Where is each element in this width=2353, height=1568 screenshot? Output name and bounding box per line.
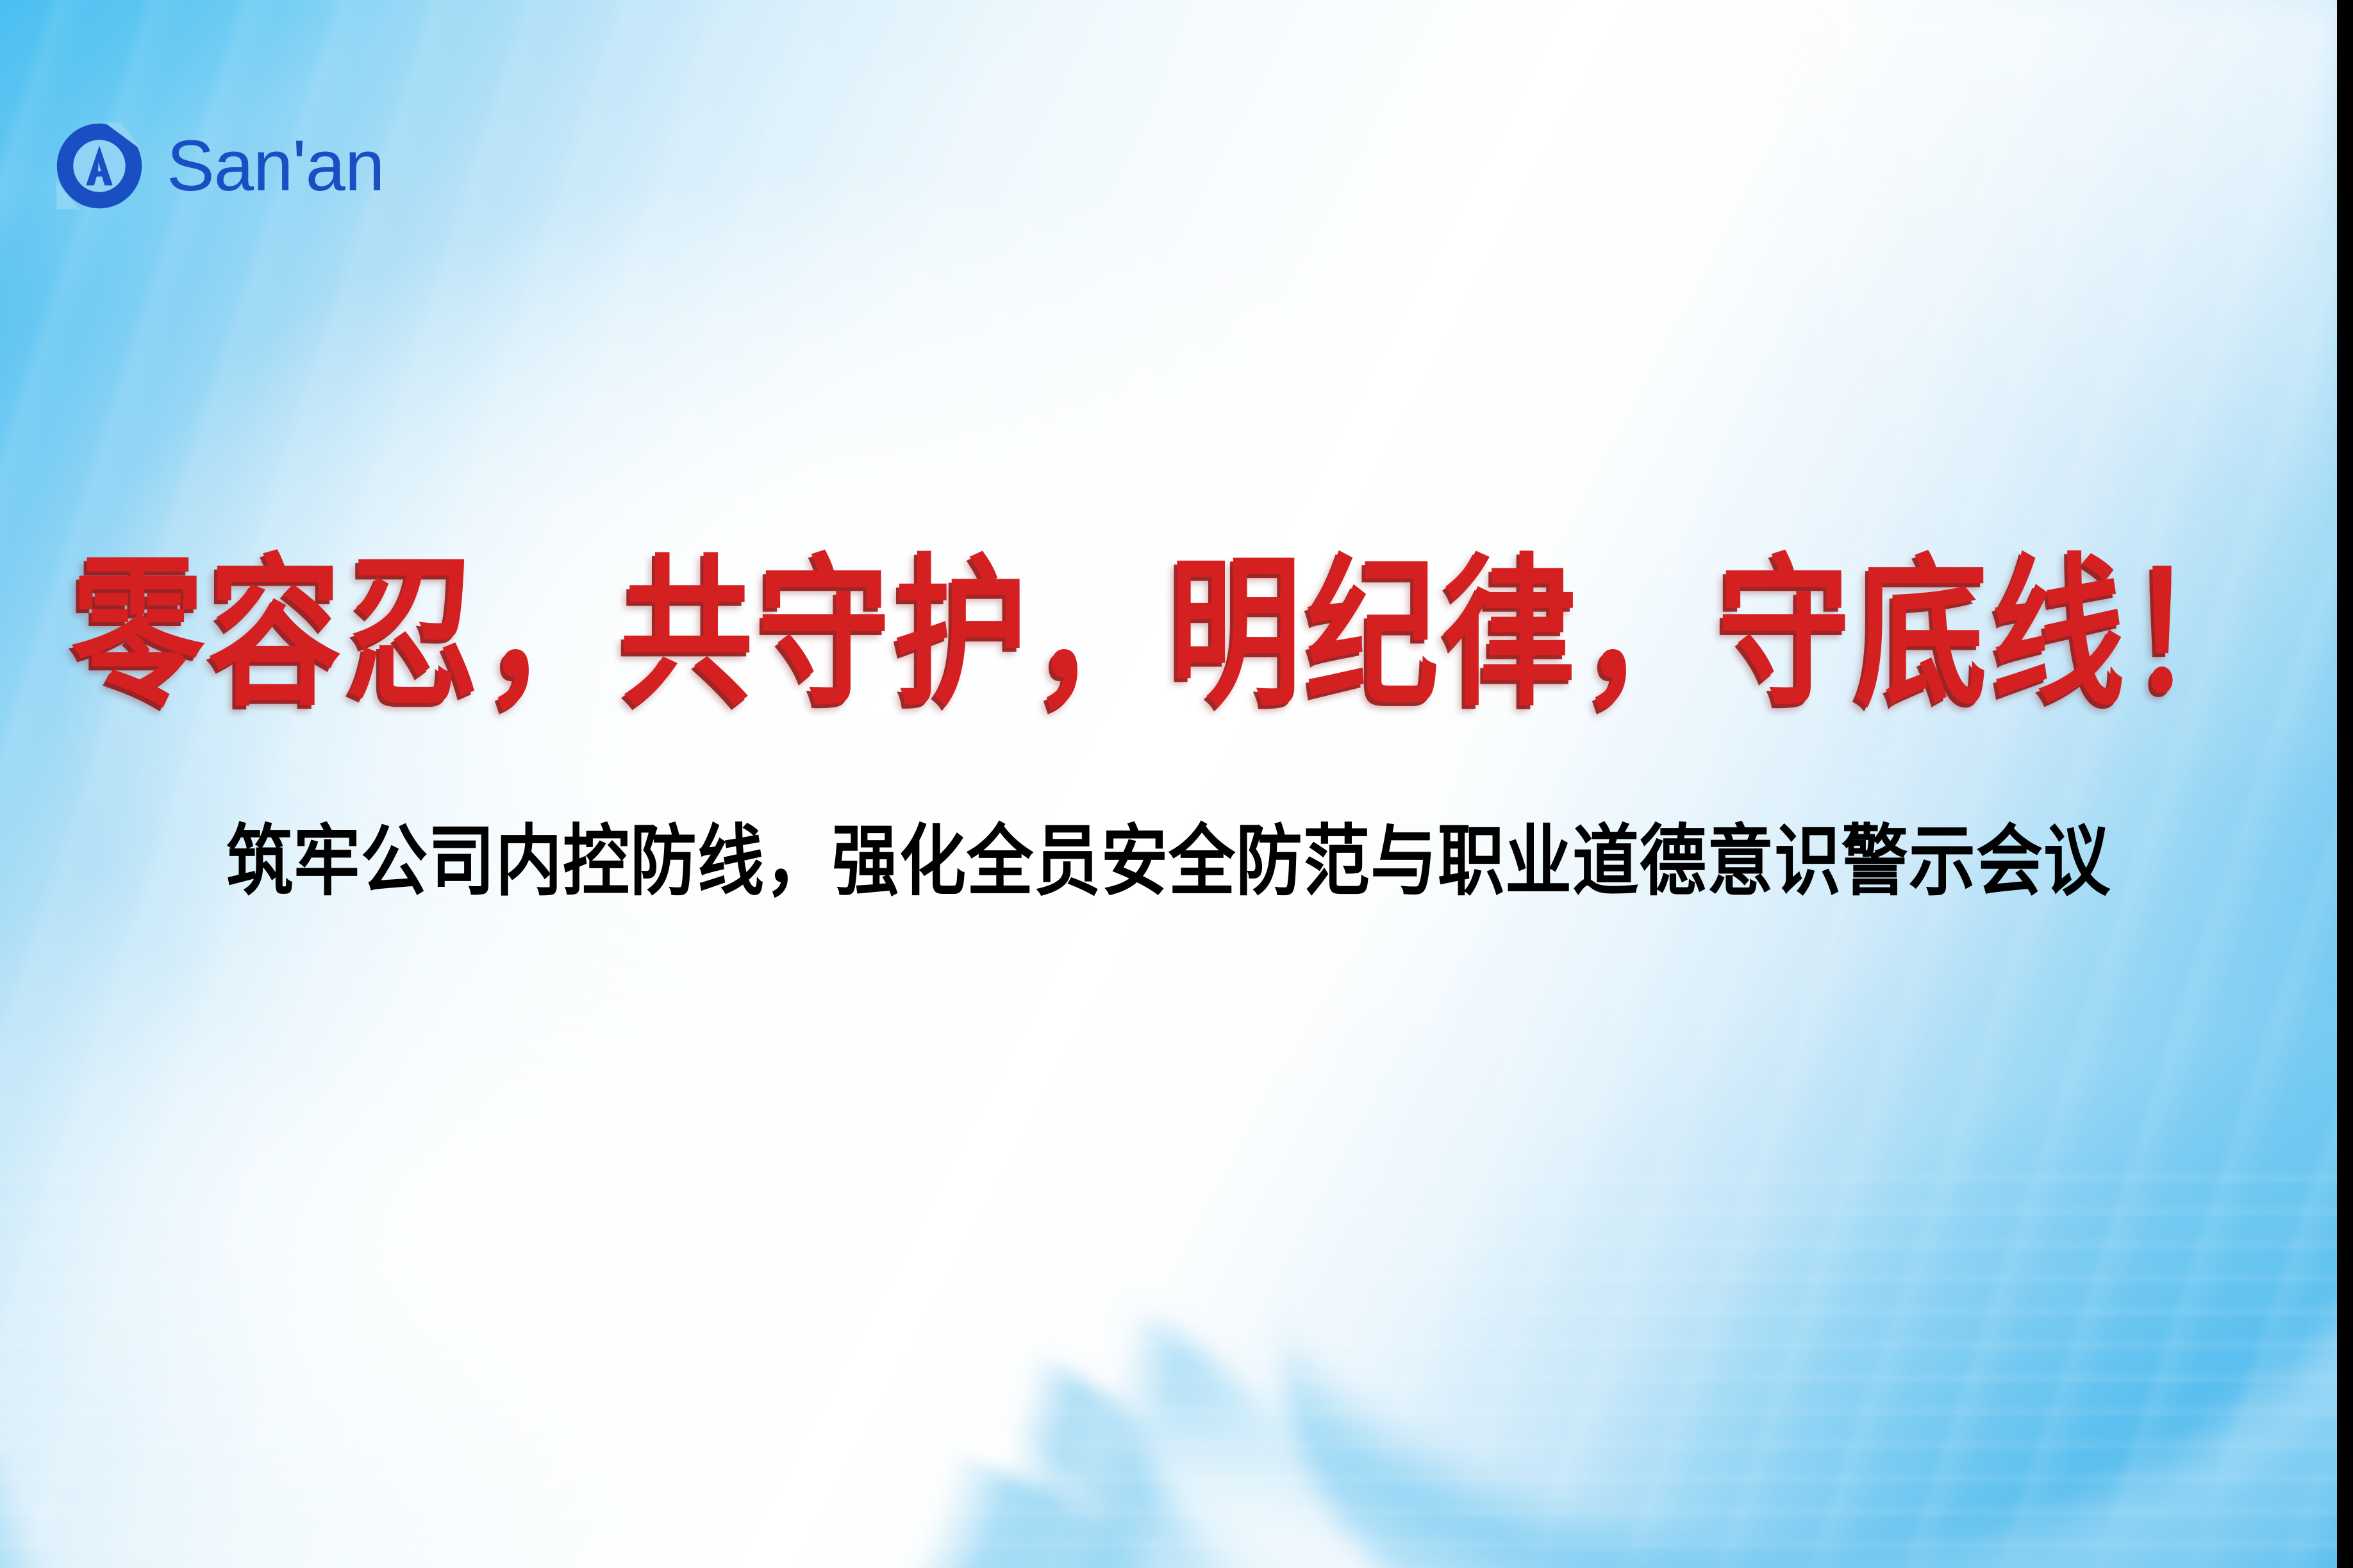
background-center-white-glow xyxy=(0,0,2353,1568)
logo-wordmark: San'an xyxy=(167,130,384,202)
presentation-slide: San'an 零容忍，共守护，明纪律，守底线！ 筑牢公司内控防线，强化全员安全防… xyxy=(0,0,2353,1568)
sanan-circle-a-icon xyxy=(55,122,144,210)
background-wave-ribbon-4 xyxy=(0,1378,1218,1568)
right-edge-black-border xyxy=(2337,0,2353,1568)
background-wave-ribbon-6 xyxy=(1282,910,2353,1568)
background-base-gradient xyxy=(0,0,2353,1568)
background-motion-bands xyxy=(0,1171,2337,1568)
background-light-rays xyxy=(0,0,2353,1568)
background-lower-left-white-glow xyxy=(0,0,2353,1568)
company-logo: San'an xyxy=(55,122,384,210)
background-wave-ribbon-3 xyxy=(0,1294,1205,1568)
background-wave-ribbon-1 xyxy=(0,1128,1410,1568)
background-lower-right-blue-glow xyxy=(0,0,2353,1568)
slide-subtitle: 筑牢公司内控防线，强化全员安全防范与职业道德意识警示会议 xyxy=(0,820,2337,905)
background-wave-ribbon-2 xyxy=(0,1217,1308,1568)
background-top-left-blue-glow xyxy=(0,0,2353,1568)
slide-headline: 零容忍，共守护，明纪律，守底线！ xyxy=(0,549,2337,721)
background-wave-ribbon-5 xyxy=(1122,859,2353,1568)
